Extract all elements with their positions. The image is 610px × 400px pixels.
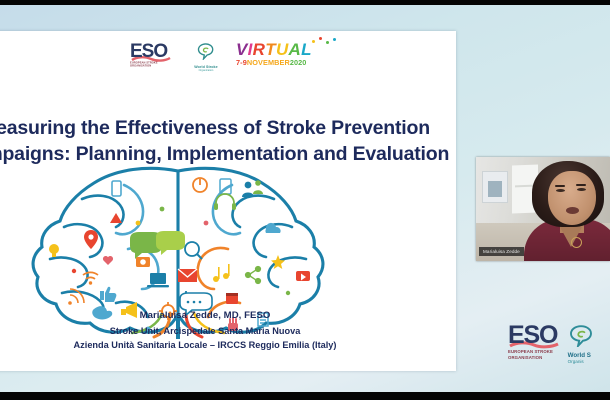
slide-title: Measuring the Effectiveness of Stroke Pr… — [0, 115, 456, 167]
virtual-date-segment-1: NOVEMBER — [247, 59, 290, 67]
speaker-eyebrow-left — [555, 185, 565, 187]
wso-corner-label-line-1: World S — [568, 352, 610, 359]
virtual-letter-u: U — [276, 41, 289, 58]
wso-logo-corner: World S Organis — [568, 323, 610, 364]
virtual-letter-t: T — [265, 41, 276, 58]
author-affiliation-2: Azienda Unità Sanitaria Locale – IRCCS R… — [0, 338, 456, 353]
eso-logo-header: ESO EUROPEAN STROKE ORGANISATION — [130, 42, 176, 72]
speech-swirl-icon — [568, 325, 594, 347]
speaker-eye-right — [577, 188, 586, 191]
meeting-screen: ESO EUROPEAN STROKE ORGANISATION World S… — [0, 0, 610, 400]
speaker-eyebrow-right — [576, 184, 586, 186]
eso-corner-wordmark: ESO — [508, 323, 560, 348]
author-name: Marialuisa Zedde, MD, FESO — [0, 309, 456, 324]
bottom-letterbox-bar — [0, 392, 610, 400]
speaker-mouth — [566, 207, 579, 214]
wall-frame — [482, 171, 508, 203]
speaker-eye-left — [556, 189, 565, 192]
participant-video-tile[interactable]: Marialuisa Zedde — [476, 157, 610, 261]
virtual-congress-logo: VIRTUAL 7-9 NOVEMBER 2020 — [236, 41, 328, 73]
slide-header-logos: ESO EUROPEAN STROKE ORGANISATION World S… — [130, 39, 330, 75]
shared-slide[interactable]: ESO EUROPEAN STROKE ORGANISATION World S… — [0, 31, 456, 371]
top-letterbox-bar — [0, 0, 610, 5]
speaker-necklace — [571, 237, 582, 248]
author-affiliation-1: Stroke Unit, Arcispedale Santa Maria Nuo… — [0, 324, 456, 339]
eso-corner-subtitle-line-2: ORGANISATION — [508, 355, 560, 360]
participant-name-label: Marialuisa Zedde — [479, 247, 524, 256]
virtual-date: 7-9 NOVEMBER 2020 — [236, 59, 328, 67]
virtual-date-segment-2: 2020 — [290, 59, 307, 67]
eso-corner-subtitle-line-1: EUROPEAN STROKE — [508, 349, 560, 354]
corner-logo-group: ESO EUROPEAN STROKE ORGANISATION World S… — [508, 323, 610, 375]
eso-logo-corner: ESO EUROPEAN STROKE ORGANISATION — [508, 323, 560, 360]
meeting-stage: ESO EUROPEAN STROKE ORGANISATION World S… — [0, 5, 610, 392]
eso-subtitle-line-2: ORGANISATION — [130, 64, 176, 68]
wso-label-line-2: Organization — [184, 69, 228, 72]
slide-title-line-1: Measuring the Effectiveness of Stroke Pr… — [0, 115, 456, 141]
virtual-letter-l: L — [301, 41, 312, 58]
wso-logo-header: World Stroke Organization — [184, 42, 228, 72]
virtual-letter-r: R — [253, 41, 266, 58]
virtual-date-segment-0: 7-9 — [236, 59, 247, 67]
wso-corner-label-line-2: Organis — [568, 359, 610, 364]
virtual-letter-v: V — [236, 41, 248, 58]
brain-outline — [33, 168, 323, 332]
eso-wordmark: ESO — [130, 42, 176, 61]
speaker-face — [548, 171, 596, 225]
virtual-letter-a: A — [289, 41, 302, 58]
virtual-wordmark: VIRTUAL — [236, 41, 328, 58]
slide-author-block: Marialuisa Zedde, MD, FESO Stroke Unit, … — [0, 309, 456, 353]
speech-swirl-icon — [196, 43, 216, 60]
